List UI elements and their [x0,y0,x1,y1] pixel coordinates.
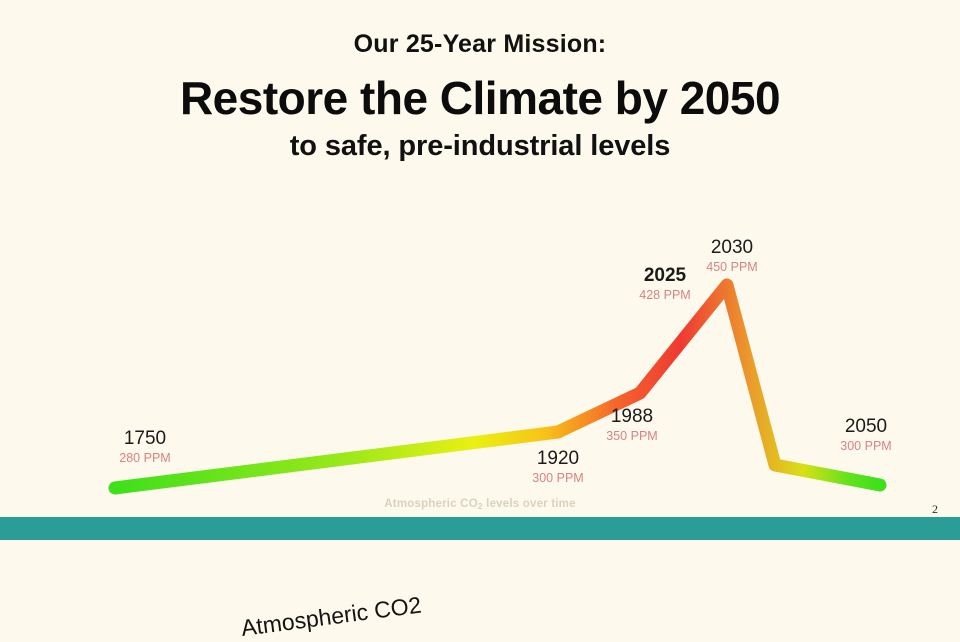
footer-accent-bar [0,517,960,540]
data-label-year: 1920 [483,448,633,469]
chart-caption-suffix: levels over time [483,498,576,510]
data-label-2050: 2050 300 PPM [791,416,941,453]
data-label-ppm: 280 PPM [70,451,220,465]
page-title: Restore the Climate by 2050 [0,71,960,125]
data-label-1920: 1920 300 PPM [483,448,633,485]
chart-caption-subscript: 2 [478,501,483,511]
title-block: Our 25-Year Mission: Restore the Climate… [0,30,960,164]
data-label-year: 1750 [70,428,220,449]
chart-caption: Atmospheric CO2 levels over time [0,498,960,510]
data-label-1750: 1750 280 PPM [70,428,220,465]
slide-canvas: Our 25-Year Mission: Restore the Climate… [0,0,960,540]
data-label-year: 2050 [791,416,941,437]
subtitle-text: to safe, pre-industrial levels [0,129,960,164]
data-label-ppm: 300 PPM [791,439,941,453]
data-label-ppm: 300 PPM [483,471,633,485]
data-label-ppm: 350 PPM [557,429,707,443]
co2-line-chart: Atmospheric CO2 1750 280 PPM 1920 300 PP… [0,210,960,510]
data-label-ppm: 450 PPM [657,260,807,274]
data-label-1988: 1988 350 PPM [557,406,707,443]
series-label-atmospheric-co2: Atmospheric CO2 [239,592,422,642]
page-number: 2 [932,502,938,517]
eyebrow-text: Our 25-Year Mission: [0,30,960,59]
data-label-ppm: 428 PPM [590,288,740,302]
chart-caption-prefix: Atmospheric CO [384,498,478,510]
data-label-year: 1988 [557,406,707,427]
data-label-year: 2030 [657,237,807,258]
data-label-2030: 2030 450 PPM [657,237,807,274]
